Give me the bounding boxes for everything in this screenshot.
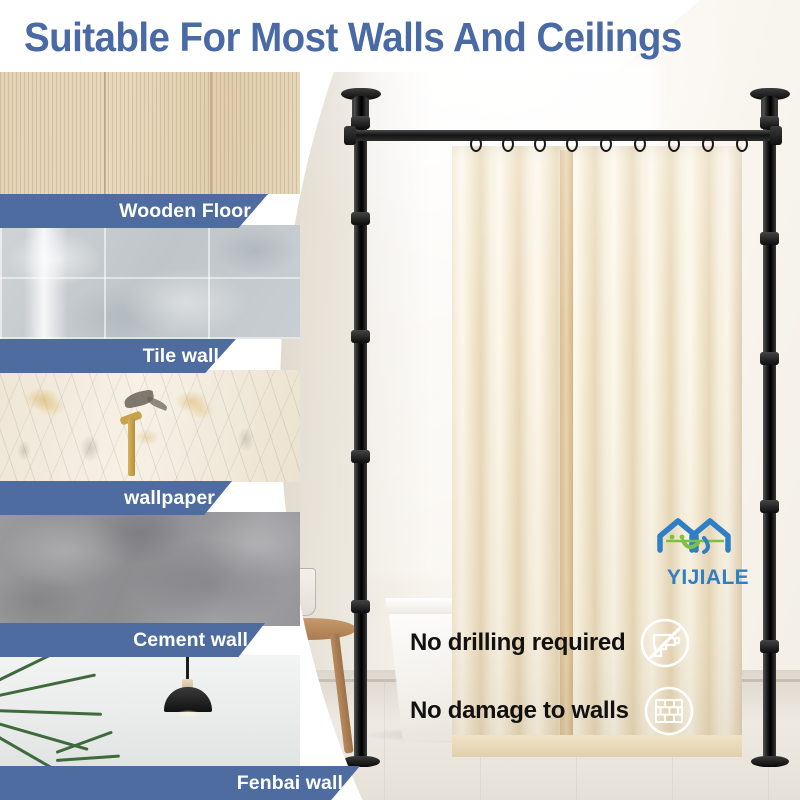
brand-logo: YIJIALE: [652, 516, 764, 590]
no-drill-icon: [639, 617, 691, 669]
swatch-label-wallpaper: wallpaper: [0, 481, 232, 515]
swatch-label-text: Wooden Floor: [119, 200, 268, 223]
curtain-ring: [470, 136, 482, 152]
curtain-ring: [566, 136, 578, 152]
curtain-ring: [736, 136, 748, 152]
house-roof-icon: [652, 516, 764, 568]
swatch-cement-wall: [0, 512, 300, 626]
curtain-ring: [534, 136, 546, 152]
rod-end-cap-right: [770, 126, 782, 145]
post-collar: [760, 500, 779, 513]
curtain-ring: [600, 136, 612, 152]
feature-no-drilling: No drilling required: [410, 617, 691, 669]
curtain-ring: [668, 136, 680, 152]
post-collar: [351, 450, 370, 463]
vertical-post-right: [763, 96, 776, 764]
feature-label: No drilling required: [410, 629, 625, 657]
wood-plank-seams: [0, 72, 300, 194]
brand-name: YIJIALE: [652, 566, 764, 590]
swatch-wooden-floor: [0, 72, 300, 194]
post-collar: [760, 640, 779, 653]
pendant-lamp-cord: [186, 655, 189, 681]
post-collar: [760, 232, 779, 245]
feature-no-damage: No damage to walls: [410, 685, 695, 737]
pendant-lamp-glow: [176, 710, 200, 717]
tile-glare: [24, 225, 68, 339]
swatch-label-tile-wall: Tile wall: [0, 339, 236, 373]
wallpaper-flowers: [0, 370, 300, 482]
swatch-label-cement-wall: Cement wall: [0, 623, 265, 657]
curtain-hem: [452, 735, 742, 757]
surface-swatch-column: [0, 72, 300, 800]
horizontal-curtain-rod: [350, 130, 780, 141]
feature-label: No damage to walls: [410, 697, 629, 725]
swatch-label-wooden-floor: Wooden Floor: [0, 194, 268, 228]
swatch-fenbai-wall: [0, 655, 300, 770]
brick-wall-icon: [643, 685, 695, 737]
post-collar: [351, 600, 370, 613]
post-collar: [351, 330, 370, 343]
swatch-label-text: Fenbai wall: [237, 772, 360, 795]
post-collar: [760, 352, 779, 365]
curtain-ring: [634, 136, 646, 152]
curtain-ring: [702, 136, 714, 152]
brass-shower-rail: [128, 418, 135, 476]
vertical-post-left: [354, 96, 367, 764]
rod-end-cap-left: [344, 126, 356, 145]
post-foot-left: [342, 756, 380, 767]
curtain-ring: [502, 136, 514, 152]
product-marketing-image: Wooden Floor Tile wall wallpaper Cement …: [0, 0, 800, 800]
swatch-label-text: Cement wall: [133, 629, 265, 652]
swatch-label-fenbai-wall: Fenbai wall: [0, 766, 360, 800]
post-collar: [351, 212, 370, 225]
pendant-lamp-shade: [164, 687, 212, 712]
cement-mottle-texture: [0, 512, 300, 626]
swatch-tile-wall: [0, 225, 300, 339]
swatch-wallpaper: [0, 370, 300, 482]
post-foot-right: [751, 756, 789, 767]
